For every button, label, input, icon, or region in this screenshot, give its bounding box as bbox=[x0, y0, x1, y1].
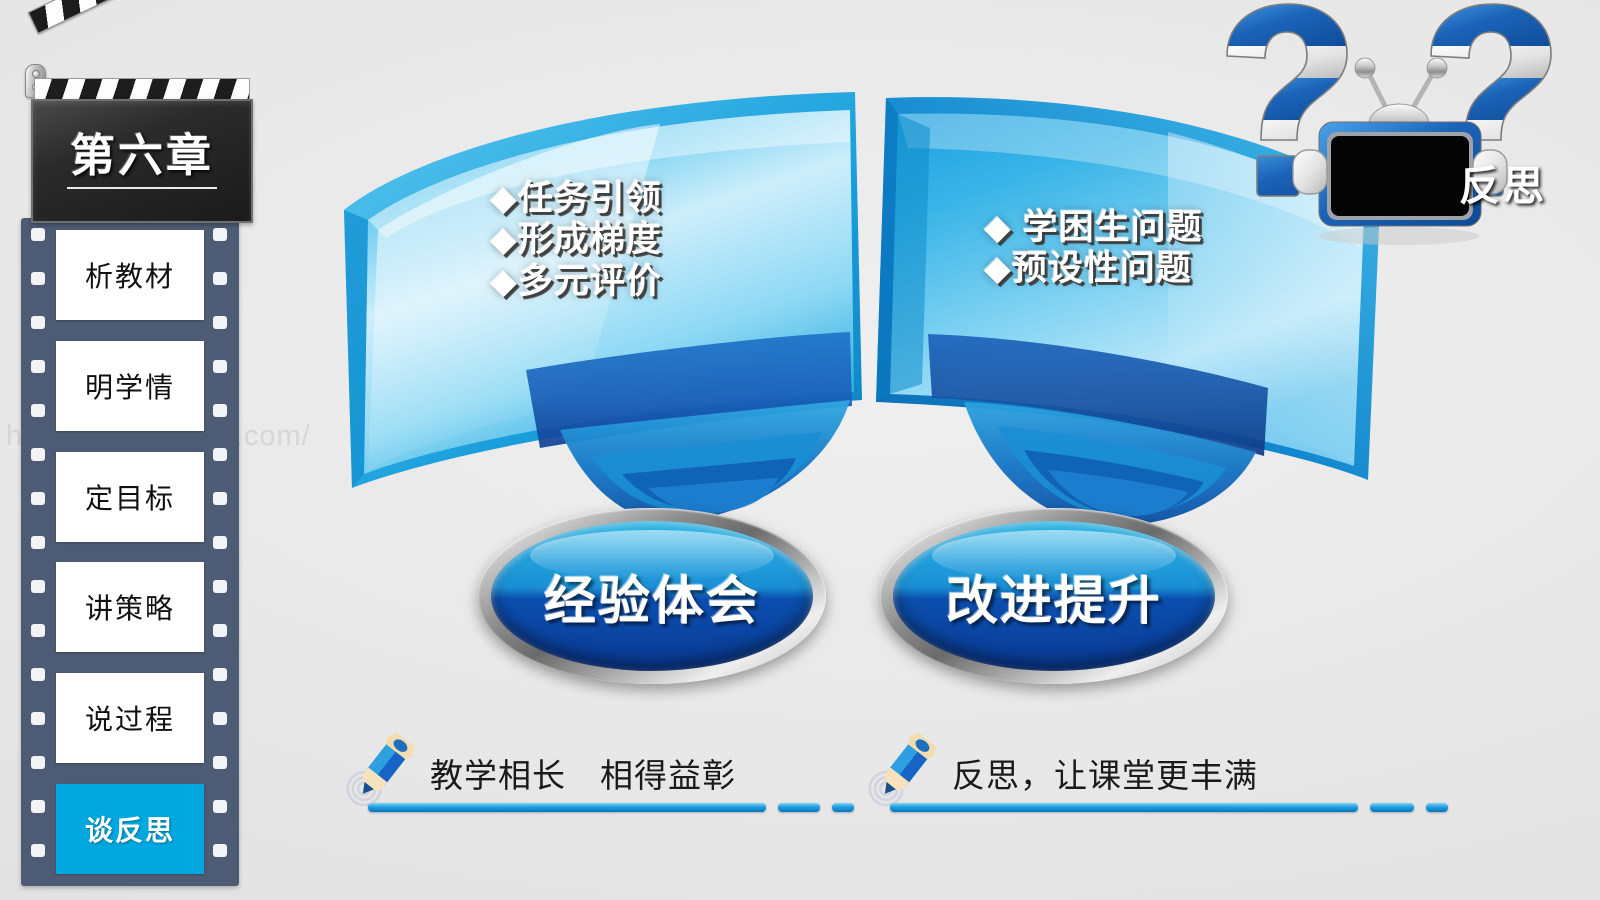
sprocket-hole bbox=[31, 624, 45, 637]
caption-left-rule bbox=[368, 803, 854, 812]
sprocket-hole bbox=[31, 756, 45, 769]
sprocket-hole bbox=[213, 844, 227, 857]
sprocket-hole bbox=[31, 844, 45, 857]
chapter-title-underline bbox=[67, 187, 217, 189]
sprocket-hole bbox=[213, 536, 227, 549]
sidebar-item-2[interactable]: 定目标 bbox=[56, 452, 204, 542]
sprocket-hole bbox=[213, 800, 227, 813]
sprocket-hole bbox=[31, 800, 45, 813]
sprocket-hole bbox=[31, 448, 45, 461]
sprocket-hole bbox=[213, 448, 227, 461]
rule-segment-dash bbox=[832, 803, 854, 812]
chapter-title: 第六章 bbox=[70, 133, 214, 178]
sprocket-holes-left bbox=[27, 218, 51, 886]
filmstrip-nav: 析教材 明学情 定目标 讲策略 说过程 谈反思 bbox=[21, 218, 239, 886]
clapperboard-icon: 第六章 bbox=[10, 2, 250, 232]
clapper-bottom-stripe bbox=[34, 78, 250, 101]
sprocket-hole bbox=[31, 712, 45, 725]
oval-button-right[interactable]: 改进提升 bbox=[880, 508, 1228, 684]
sprocket-hole bbox=[213, 756, 227, 769]
sprocket-hole bbox=[213, 580, 227, 593]
oval-right-label: 改进提升 bbox=[946, 559, 1162, 634]
sprocket-hole bbox=[213, 272, 227, 285]
sprocket-hole bbox=[213, 712, 227, 725]
rule-segment-dash bbox=[1426, 803, 1448, 812]
sprocket-hole bbox=[213, 360, 227, 373]
sprocket-hole bbox=[31, 536, 45, 549]
pencil-icon bbox=[862, 725, 948, 811]
pencil-icon bbox=[340, 725, 426, 811]
rule-segment-long bbox=[890, 803, 1358, 812]
sprocket-hole bbox=[213, 404, 227, 417]
sidebar-item-3[interactable]: 讲策略 bbox=[56, 562, 204, 652]
sprocket-hole bbox=[213, 668, 227, 681]
oval-right-face: 改进提升 bbox=[893, 521, 1215, 671]
nav-item-list: 析教材 明学情 定目标 讲策略 说过程 谈反思 bbox=[56, 230, 204, 874]
oval-left-label: 经验体会 bbox=[544, 559, 760, 634]
rule-segment-dash bbox=[1370, 803, 1414, 812]
oval-left-face: 经验体会 bbox=[491, 521, 813, 671]
banner-left: ◆任务引领 ◆形成梯度 ◆多元评价 bbox=[330, 70, 870, 550]
sprocket-hole bbox=[31, 404, 45, 417]
sprocket-hole bbox=[31, 272, 45, 285]
sprocket-hole bbox=[31, 316, 45, 329]
sprocket-hole bbox=[213, 624, 227, 637]
clapper-top-stripe bbox=[28, 0, 241, 34]
sprocket-holes-right bbox=[209, 218, 233, 886]
caption-left-text: 教学相长 相得益彰 bbox=[430, 749, 736, 797]
sidebar-item-5-active[interactable]: 谈反思 bbox=[56, 784, 204, 874]
sprocket-hole bbox=[31, 360, 45, 373]
slide-canvas: https://www.1ppt.com/ 第六章 析教材 明学情 定目标 讲策… bbox=[0, 0, 1600, 900]
rule-segment-dash bbox=[778, 803, 820, 812]
sprocket-hole bbox=[31, 580, 45, 593]
caption-right-rule bbox=[890, 803, 1448, 812]
rule-segment-long bbox=[368, 803, 766, 812]
sidebar-item-0[interactable]: 析教材 bbox=[56, 230, 204, 320]
caption-right-text: 反思，让课堂更丰满 bbox=[952, 749, 1258, 797]
banner-right-text: ◆ 学困生问题 ◆预设性问题 bbox=[984, 207, 1203, 290]
banner-left-text: ◆任务引领 ◆形成梯度 ◆多元评价 bbox=[490, 178, 662, 302]
oval-button-left[interactable]: 经验体会 bbox=[478, 508, 826, 684]
sprocket-hole bbox=[31, 668, 45, 681]
question-mark-robot-icon: 反思 bbox=[1195, 0, 1595, 250]
clapper-board-panel: 第六章 bbox=[31, 99, 253, 223]
oval-right-ring: 改进提升 bbox=[880, 508, 1228, 684]
oval-left-ring: 经验体会 bbox=[478, 508, 826, 684]
sprocket-hole bbox=[213, 492, 227, 505]
sprocket-hole bbox=[31, 492, 45, 505]
sidebar-item-4[interactable]: 说过程 bbox=[56, 673, 204, 763]
sidebar-item-1[interactable]: 明学情 bbox=[56, 341, 204, 431]
sprocket-hole bbox=[213, 316, 227, 329]
